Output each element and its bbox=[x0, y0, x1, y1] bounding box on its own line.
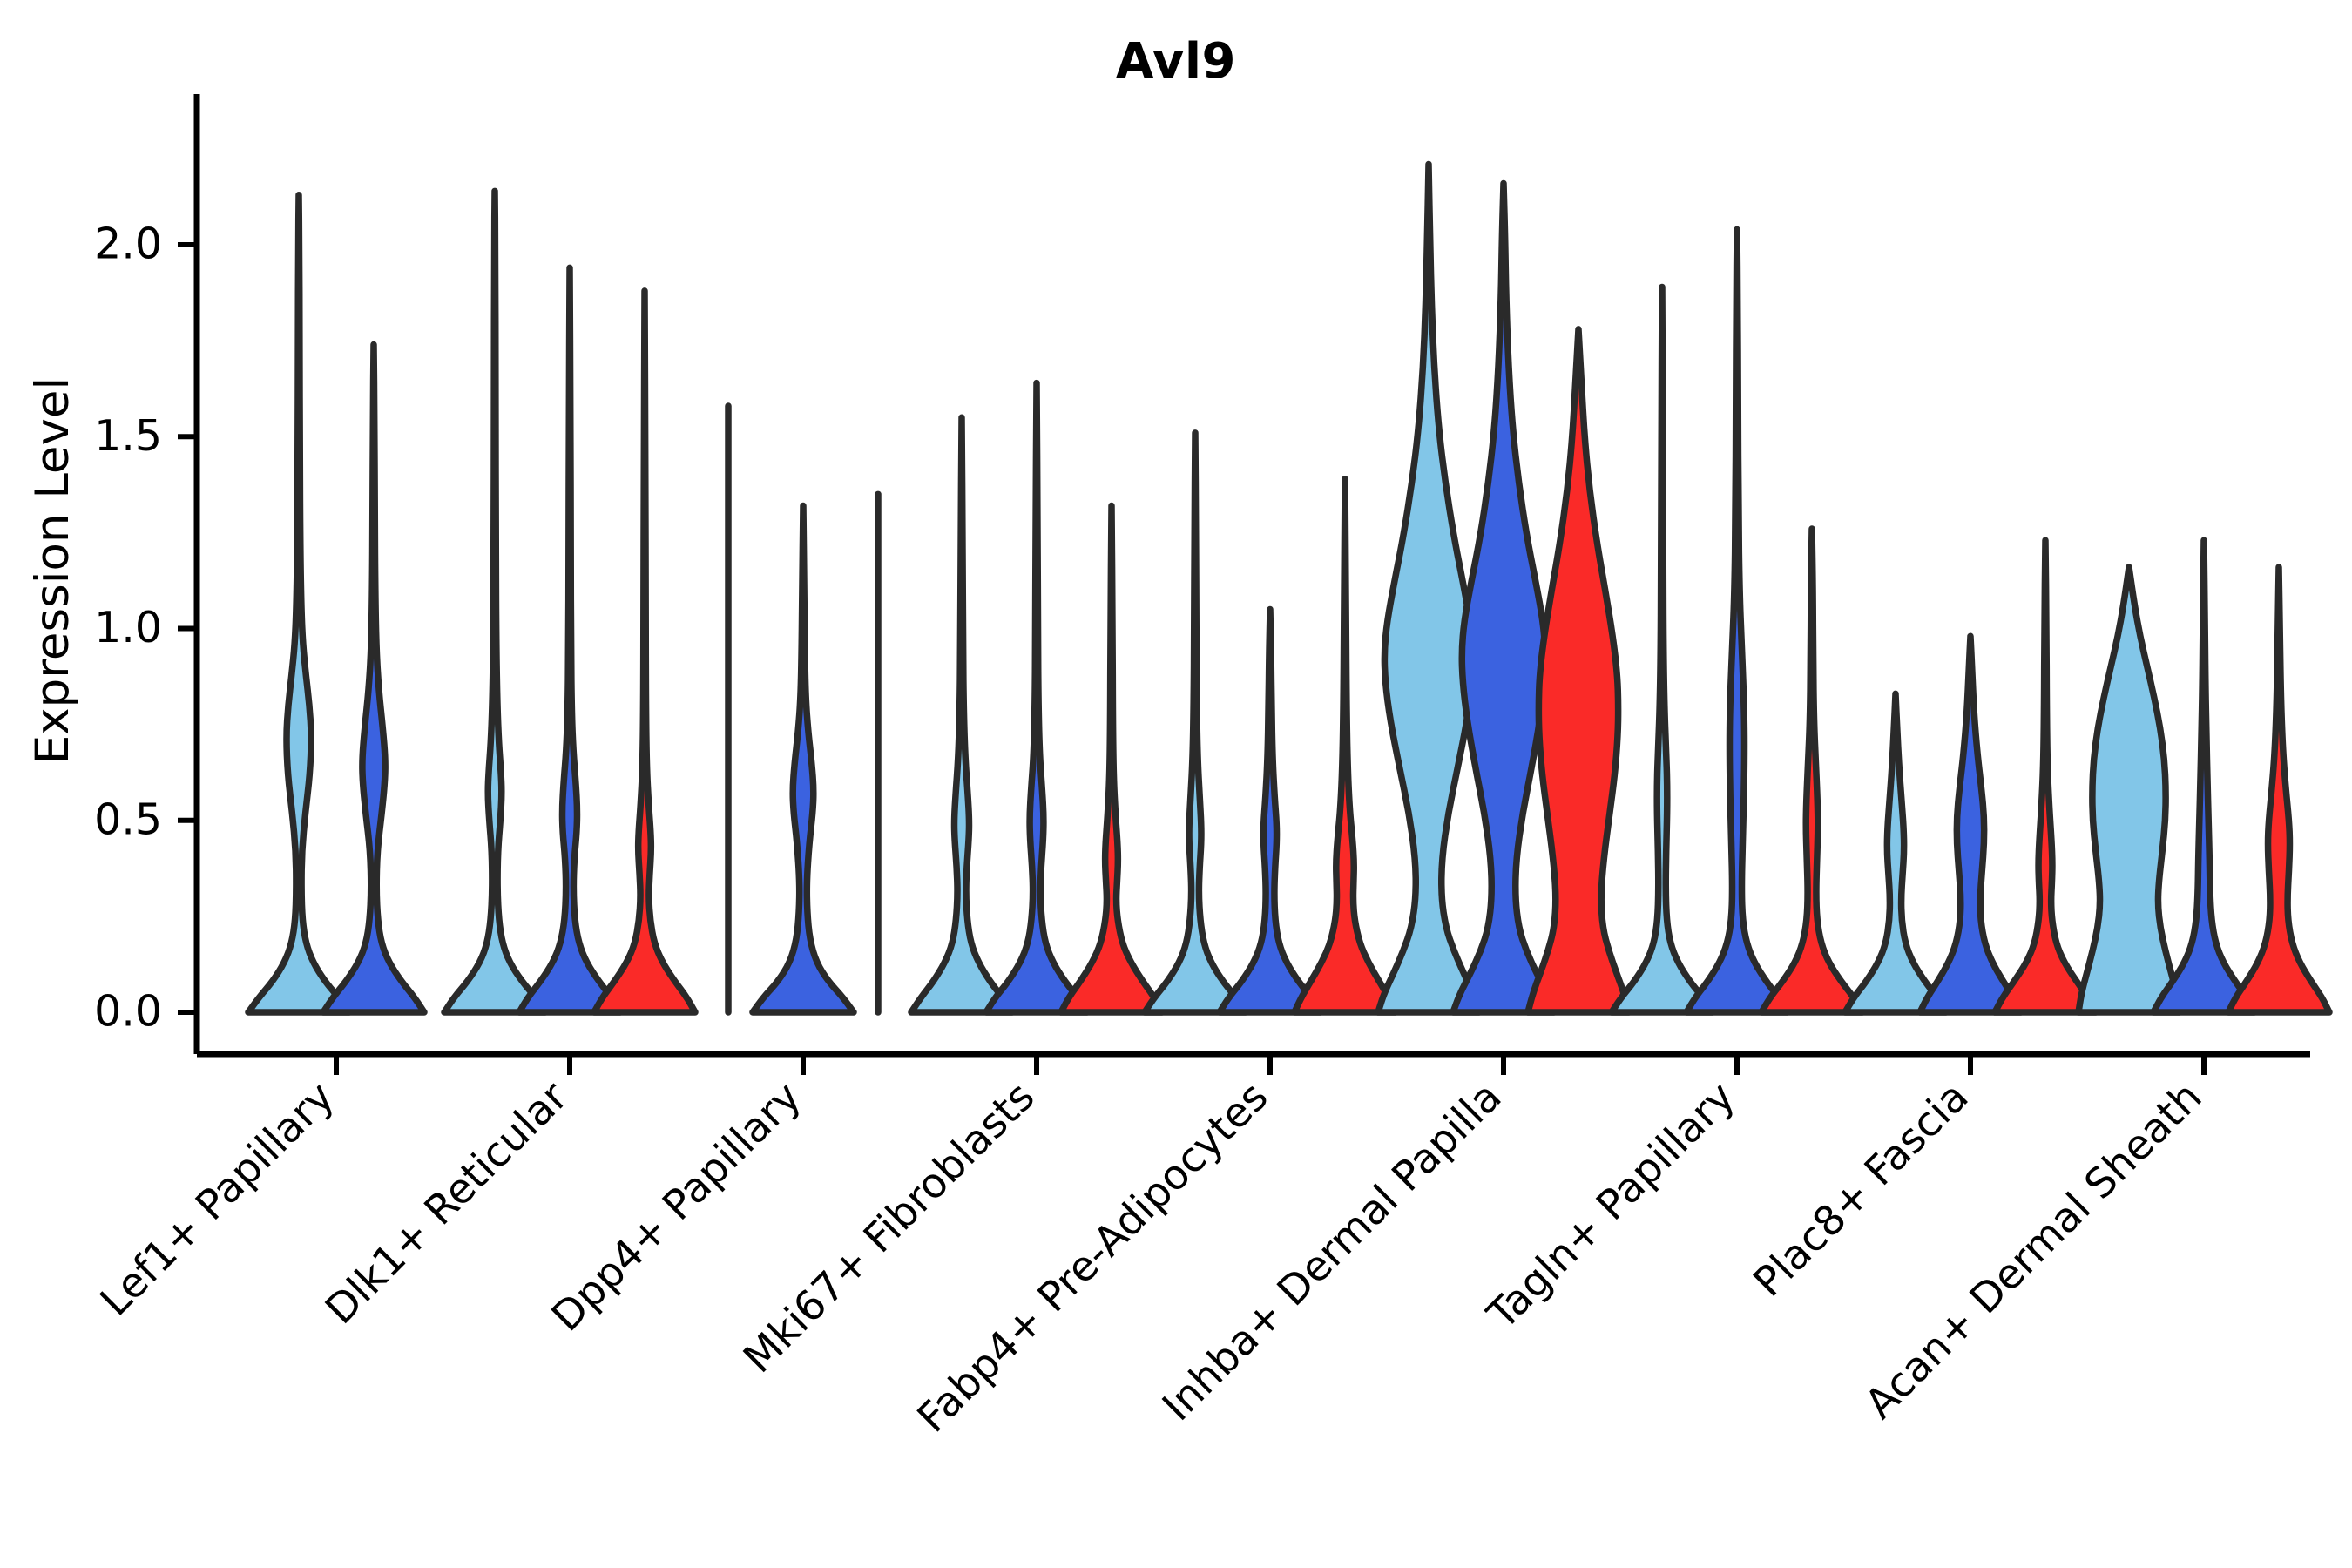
violin-shape bbox=[1220, 609, 1321, 1012]
y-axis-tick-label: 1.5 bbox=[94, 411, 162, 461]
violin-shape bbox=[911, 417, 1012, 1012]
violin-shape bbox=[753, 506, 854, 1012]
violin-shape bbox=[1845, 693, 1946, 1012]
violin-group bbox=[2078, 540, 2329, 1012]
violin-shape bbox=[1995, 540, 2096, 1012]
violin-group bbox=[444, 191, 695, 1012]
violin-shape bbox=[2078, 567, 2180, 1012]
y-axis-label: Expression Level bbox=[26, 377, 79, 764]
x-axis-tick-label: Tagln+ Papillary bbox=[1478, 1073, 1745, 1340]
y-axis-tick-label: 1.0 bbox=[94, 603, 162, 652]
violin-shape bbox=[1528, 329, 1629, 1012]
violin-group bbox=[728, 406, 878, 1012]
y-axis-tick-label: 2.0 bbox=[94, 220, 162, 269]
y-axis-tick-label: 0.5 bbox=[94, 794, 162, 844]
violin-shape bbox=[1145, 433, 1246, 1012]
x-axis-tick-label: Lef1+ Papillary bbox=[91, 1073, 344, 1326]
violin-shape bbox=[1612, 287, 1713, 1012]
y-axis-tick-label: 0.0 bbox=[94, 987, 162, 1037]
violin-shape bbox=[1761, 529, 1862, 1012]
violin-shape bbox=[323, 345, 424, 1012]
x-axis-tick-label: Dlk1+ Reticular bbox=[316, 1072, 578, 1334]
violin-shape bbox=[1294, 479, 1396, 1012]
violin-group bbox=[1378, 165, 1629, 1013]
violin-shape bbox=[444, 191, 545, 1012]
violins-layer bbox=[248, 165, 2329, 1013]
violin-shape bbox=[1378, 165, 1479, 1013]
violin-shape bbox=[986, 383, 1087, 1012]
violin-shape bbox=[2153, 540, 2254, 1012]
violin-shape bbox=[248, 195, 349, 1012]
violin-group bbox=[1145, 433, 1396, 1012]
violin-shape bbox=[1920, 636, 2021, 1012]
violin-group bbox=[911, 383, 1162, 1012]
violin-plot-figure: Avl9 0.00.51.01.52.0Expression LevelLef1… bbox=[0, 0, 2352, 1568]
violin-shape bbox=[1686, 229, 1788, 1012]
violin-group bbox=[248, 195, 424, 1012]
violin-shape bbox=[1453, 184, 1554, 1012]
violin-shape bbox=[519, 267, 620, 1012]
plot-canvas: 0.00.51.01.52.0Expression LevelLef1+ Pap… bbox=[0, 0, 2352, 1568]
x-axis-tick-label: Dpp4+ Papillary bbox=[543, 1073, 811, 1342]
x-axis-tick-label: Plac8+ Fascia bbox=[1745, 1073, 1978, 1307]
violin-shape bbox=[1061, 506, 1162, 1012]
violin-group bbox=[1845, 540, 2096, 1012]
violin-shape bbox=[2228, 567, 2329, 1012]
violin-shape bbox=[594, 291, 695, 1012]
violin-group bbox=[1612, 229, 1862, 1012]
